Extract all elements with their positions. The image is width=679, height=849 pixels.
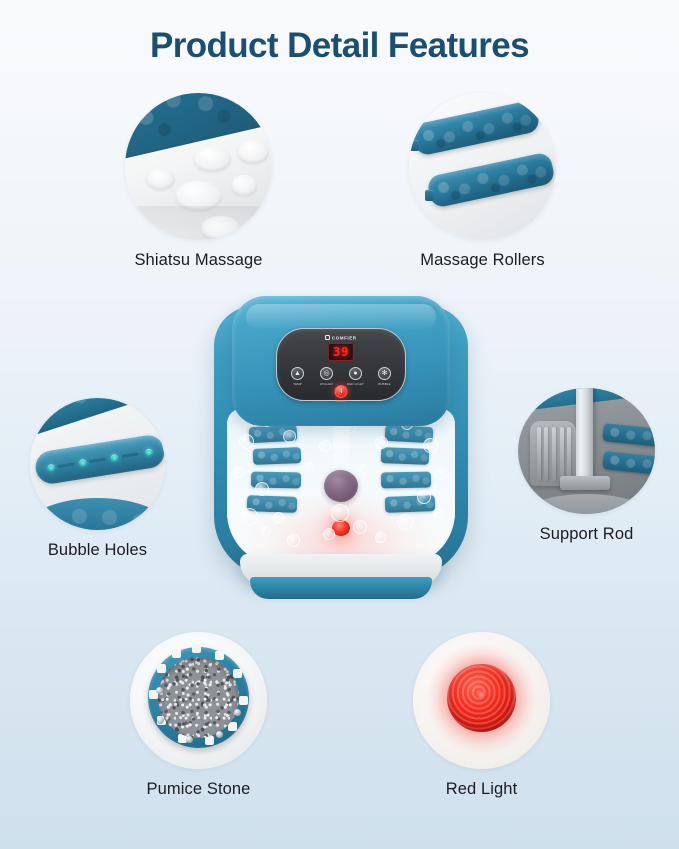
- water-bubble: [319, 440, 331, 452]
- power-icon: [335, 385, 348, 398]
- roller-button-ring: ◎: [320, 367, 333, 380]
- shiatsu-node: [146, 169, 175, 190]
- bubble-holes-image: [30, 398, 165, 530]
- underside-roller: [602, 423, 655, 447]
- water-bubble: [353, 520, 367, 534]
- ring-notch: [172, 649, 181, 658]
- feature-pumice-stone: Pumice Stone: [130, 632, 267, 799]
- red-light-icon: ●: [350, 368, 361, 379]
- bubble-hole: [47, 463, 55, 471]
- bubble-button[interactable]: ✻ BUBBLE: [374, 367, 396, 386]
- water-bubble: [273, 512, 284, 523]
- bubble-button-label: BUBBLE: [374, 382, 396, 386]
- bubble-hole: [146, 448, 154, 456]
- feature-label-massage-rollers: Massage Rollers: [409, 251, 556, 270]
- water-bubble: [417, 490, 431, 504]
- water-bubble: [233, 466, 245, 478]
- brand-logo: COMFIER: [277, 335, 405, 340]
- lower-roller: [30, 498, 165, 530]
- basin-roller: [253, 447, 302, 465]
- bubble-icon: ✻: [379, 368, 390, 379]
- ring-notch: [205, 736, 214, 745]
- ring-notch: [215, 651, 224, 660]
- brand-name: COMFIER: [332, 335, 357, 340]
- support-rod-art: [518, 388, 655, 514]
- red-light-button-label: RED LIGHT: [345, 382, 367, 386]
- shiatsu-node: [231, 175, 257, 196]
- foot-spa-product-image: COMFIER 39 ▲ TEMP ◎ ROLLER: [210, 296, 472, 606]
- water-bubble: [331, 504, 349, 522]
- bubble-button-ring: ✻: [378, 367, 391, 380]
- feature-label-red-light: Red Light: [413, 780, 550, 799]
- shiatsu-node: [237, 140, 269, 164]
- vent-fin: [544, 427, 548, 481]
- feature-massage-rollers: Massage Rollers: [409, 93, 556, 270]
- basin-roller: [381, 472, 431, 489]
- water-bubble: [435, 468, 447, 480]
- feature-label-shiatsu-massage: Shiatsu Massage: [125, 251, 272, 270]
- temp-button-ring: ▲: [291, 367, 304, 380]
- bubble-bar: [34, 433, 165, 486]
- ring-screw: [234, 709, 241, 716]
- infographic-page: Product Detail Features Shiatsu Massage: [0, 0, 679, 849]
- vent-fin: [567, 427, 571, 481]
- feature-red-light: Red Light: [413, 632, 550, 799]
- base-plate: [518, 494, 655, 514]
- upper-roller: [30, 398, 165, 441]
- ring-notch: [192, 644, 201, 653]
- water-bubble: [241, 508, 258, 525]
- ring-notch: [157, 664, 166, 673]
- red-light-art: [413, 632, 550, 769]
- support-rod-image: [518, 388, 655, 514]
- spa-base-foot: [250, 577, 432, 599]
- bubble-slot: [122, 452, 139, 458]
- bubble-holes-art: [30, 398, 165, 530]
- ring-notch: [239, 696, 248, 705]
- bubble-slot: [90, 457, 107, 463]
- roller-button[interactable]: ◎ ROLLER: [316, 367, 338, 386]
- bubble-hole: [111, 453, 119, 461]
- spa-hood: COMFIER 39 ▲ TEMP ◎ ROLLER: [232, 296, 450, 426]
- red-light-image: [413, 632, 550, 769]
- water-bubble: [305, 462, 314, 471]
- red-light-lens: [447, 664, 516, 733]
- massage-rollers-art: [409, 93, 556, 240]
- water-bubble: [375, 532, 386, 543]
- support-rod-post: [576, 388, 593, 485]
- temp-icon: ▲: [292, 368, 303, 379]
- water-bubble: [423, 438, 438, 453]
- power-button-label: ON/OFF: [335, 399, 348, 403]
- massage-roller: [426, 151, 556, 209]
- bubble-slot: [58, 462, 75, 468]
- water-bubble: [323, 528, 335, 540]
- vent-fin: [537, 427, 541, 481]
- feature-support-rod: Support Rod: [518, 388, 655, 544]
- shiatsu-node: [193, 146, 231, 172]
- basin-roller: [381, 447, 430, 465]
- control-button-row: ▲ TEMP ◎ ROLLER ● RED LIG: [277, 367, 405, 386]
- pumice-stone-image: [130, 632, 267, 769]
- shiatsu-massage-image: [125, 93, 272, 240]
- massage-rollers-image: [409, 93, 556, 240]
- underside-roller: [602, 451, 655, 475]
- pumice-abrasive-disc: [158, 657, 239, 738]
- spa-basin: [227, 408, 455, 566]
- water-bubble: [433, 508, 443, 518]
- basin-pumice-stone: [324, 470, 358, 502]
- ring-notch: [233, 669, 242, 678]
- ring-screw: [156, 687, 163, 694]
- shiatsu-base-shadow: [134, 206, 269, 232]
- vent-fin: [552, 427, 556, 481]
- page-title: Product Detail Features: [0, 26, 679, 66]
- feature-shiatsu-massage: Shiatsu Massage: [125, 93, 272, 270]
- water-bubble: [261, 526, 271, 536]
- feature-label-bubble-holes: Bubble Holes: [30, 541, 165, 560]
- ring-screw: [216, 731, 223, 738]
- temp-button[interactable]: ▲ TEMP: [287, 367, 309, 386]
- control-panel[interactable]: COMFIER 39 ▲ TEMP ◎ ROLLER: [276, 328, 406, 401]
- water-bubble: [283, 430, 296, 443]
- vent-fin: [560, 427, 564, 481]
- water-bubble: [375, 436, 388, 449]
- roller-axle-cap: [410, 140, 419, 151]
- water-bubble: [287, 534, 300, 547]
- red-light-center: [477, 691, 485, 699]
- water-bubble: [239, 434, 254, 449]
- temperature-display: 39: [328, 343, 354, 361]
- water-bubble: [359, 464, 368, 473]
- feature-label-support-rod: Support Rod: [518, 525, 655, 544]
- roller-axle-cap: [425, 190, 434, 201]
- hood-highlight: [246, 304, 436, 330]
- red-light-button-ring: ●: [349, 367, 362, 380]
- brand-mark-icon: [325, 335, 330, 340]
- water-bubble: [397, 514, 413, 530]
- water-bubble: [255, 482, 269, 496]
- power-button[interactable]: ON/OFF: [335, 385, 348, 403]
- support-rod-foot: [560, 476, 609, 490]
- pumice-stone-art: [130, 632, 267, 769]
- feature-bubble-holes: Bubble Holes: [30, 398, 165, 560]
- temp-button-label: TEMP: [287, 382, 309, 386]
- shiatsu-surface-art: [125, 93, 272, 240]
- roller-icon: ◎: [321, 368, 332, 379]
- bubble-hole: [79, 458, 87, 466]
- massage-roller: [411, 99, 541, 157]
- red-light-button[interactable]: ● RED LIGHT: [345, 367, 367, 386]
- feature-label-pumice-stone: Pumice Stone: [130, 780, 267, 799]
